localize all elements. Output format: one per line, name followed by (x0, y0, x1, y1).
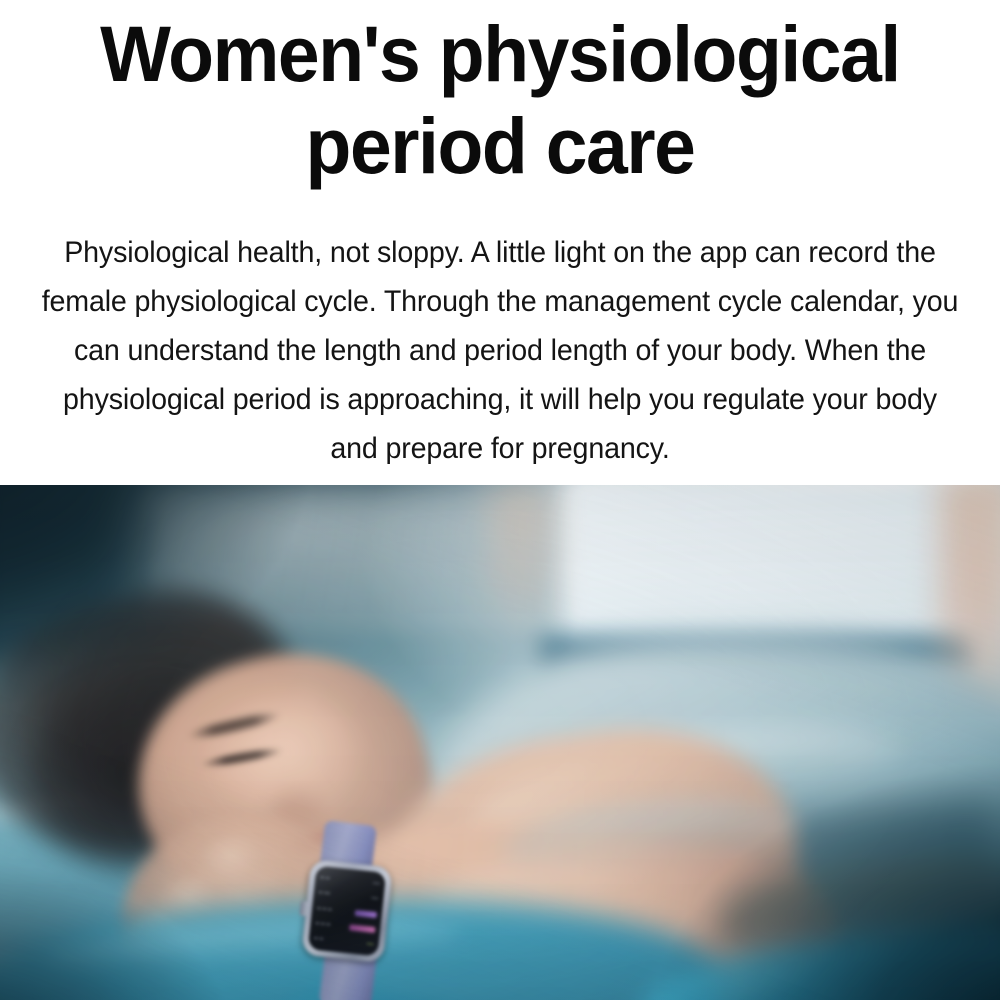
body-paragraph: Physiological health, not sloppy. A litt… (36, 228, 963, 473)
page-root: Women's physiological period care Physio… (0, 0, 1000, 1000)
page-title: Women's physiological period care (25, 8, 975, 192)
text-block: Women's physiological period care Physio… (0, 0, 1000, 485)
hero-photo: •• •• •••• •• ••• •••• •• •• •• •• •• ••… (0, 485, 1000, 1000)
vignette-bottom-left (0, 485, 1000, 1000)
